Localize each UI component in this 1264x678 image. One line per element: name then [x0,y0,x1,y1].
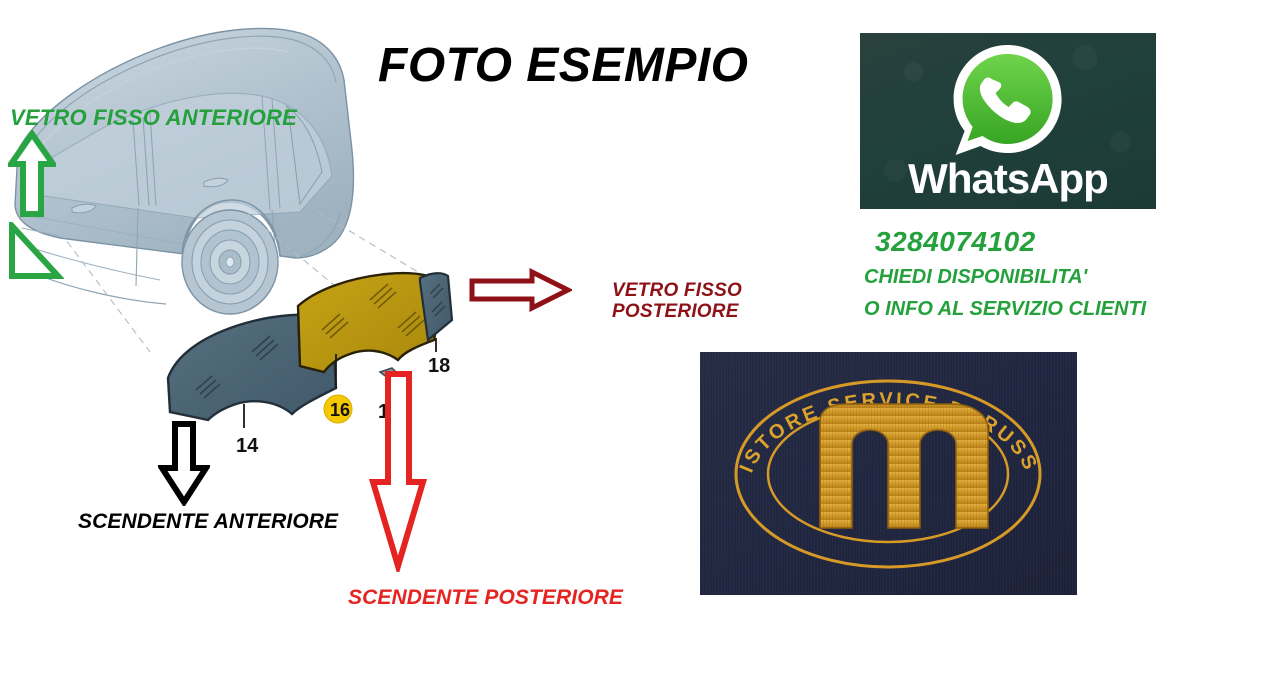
mricambistore-logo-icon: MRICAMBISTORE SERVICE DI RUSSO MARCO [700,352,1077,595]
label-scendente-anteriore: SCENDENTE ANTERIORE [78,510,338,534]
callout-18: 18 [428,355,450,377]
label-vetro-fisso-anteriore: VETRO FISSO ANTERIORE [10,106,297,131]
contact-service-line: O INFO AL SERVIZIO CLIENTI [864,298,1146,321]
dark-red-right-arrow-icon [468,268,572,312]
callout-16: 16 [330,400,350,420]
black-down-arrow-icon [158,420,210,506]
phone-number: 3284074102 [875,226,1036,258]
whatsapp-phone-bubble-icon [946,41,1066,165]
green-triangle-icon [6,222,64,282]
whatsapp-wordmark: WhatsApp [860,155,1156,203]
callout-14: 14 [236,435,259,457]
car-body-illustration [15,28,354,314]
page-title: FOTO ESEMPIO [378,38,749,93]
green-up-arrow-icon [8,130,56,218]
label-vetro-fisso-posteriore: VETRO FISSO POSTERIORE [612,280,742,323]
whatsapp-banner: WhatsApp [860,33,1156,209]
red-down-arrow-icon [368,370,428,572]
logo-monogram [820,404,988,528]
screenshot-root: 14 16 17 18 FOTO ESEMPIO VETRO FISSO ANT… [0,0,1264,678]
brand-logo-banner: MRICAMBISTORE SERVICE DI RUSSO MARCO [700,352,1077,595]
label-scendente-posteriore: SCENDENTE POSTERIORE [348,586,623,610]
contact-availability-line: CHIEDI DISPONIBILITA' [864,266,1087,289]
